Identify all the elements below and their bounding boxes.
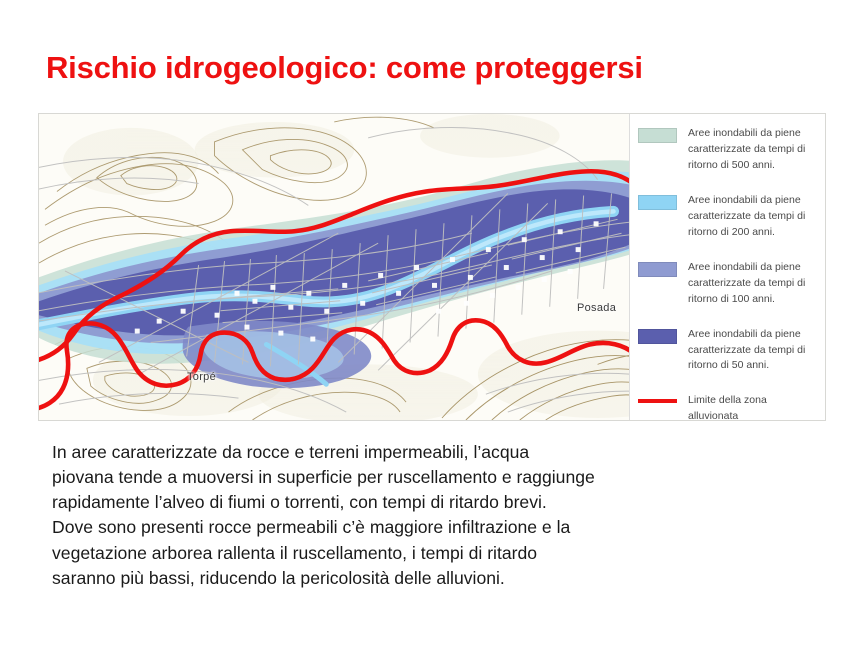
page-title: Rischio idrogeologico: come proteggersi bbox=[46, 50, 826, 86]
legend-label-200: Aree inondabili da piene caratterizzate … bbox=[688, 193, 805, 241]
legend-label-100: Aree inondabili da piene caratterizzate … bbox=[688, 260, 805, 308]
map-legend: Aree inondabili da piene caratterizzate … bbox=[629, 114, 825, 421]
legend-swatch-100-icon bbox=[638, 262, 677, 277]
legend-item-piene-50: Aree inondabili da piene caratterizzate … bbox=[638, 327, 817, 375]
slide: Rischio idrogeologico: come proteggersi bbox=[0, 0, 864, 648]
legend-swatch-flood-limit-icon bbox=[638, 399, 677, 403]
legend-item-piene-200: Aree inondabili da piene caratterizzate … bbox=[638, 193, 817, 241]
legend-label-50: Aree inondabili da piene caratterizzate … bbox=[688, 327, 805, 375]
legend-label-flood-limit: Limite della zona alluvionata bbox=[688, 393, 817, 421]
map-figure: Torpé Posada Aree inondabili da piene ca… bbox=[38, 113, 826, 421]
legend-item-piene-100: Aree inondabili da piene caratterizzate … bbox=[638, 260, 817, 308]
legend-swatch-50-icon bbox=[638, 329, 677, 344]
legend-swatch-200-icon bbox=[638, 195, 677, 210]
legend-swatch-500-icon bbox=[638, 128, 677, 143]
legend-label-500: Aree inondabili da piene caratterizzate … bbox=[688, 126, 805, 174]
body-paragraph: In aree caratterizzate da rocce e terren… bbox=[52, 440, 818, 591]
legend-item-limite-zona-alluvionata: Limite della zona alluvionata bbox=[638, 393, 817, 421]
legend-item-piene-500: Aree inondabili da piene caratterizzate … bbox=[638, 126, 817, 174]
